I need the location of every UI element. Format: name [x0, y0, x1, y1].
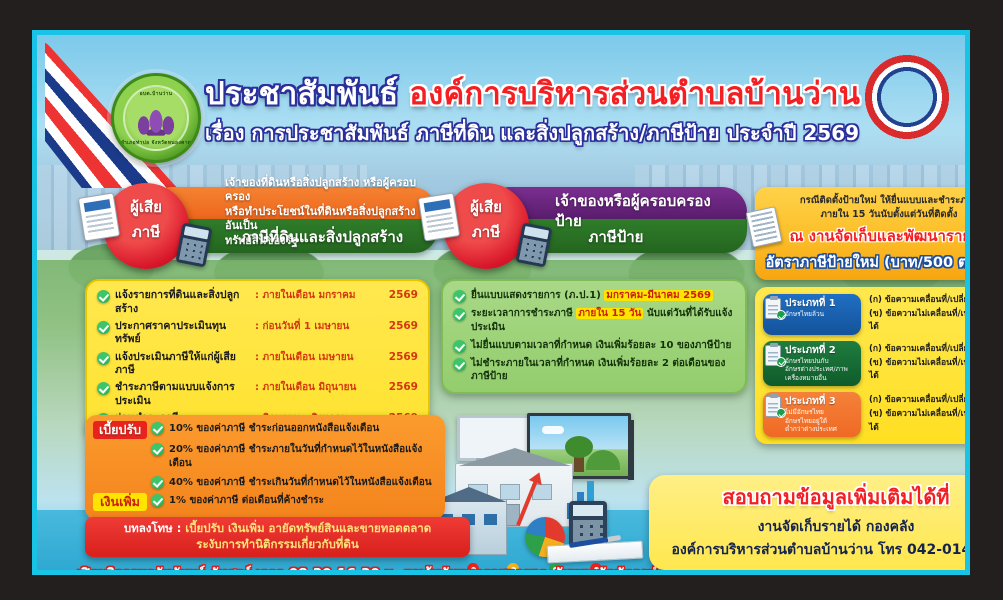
punishment-notice: บทลงโทษ : เบี้ยปรับ เงินเพิ่ม อายัดทรัพย…	[85, 517, 470, 557]
rate-table-row: ประเภทที่ 3 ไม่มีอักษรไทย อักษรไทยอยู่ใต…	[763, 392, 965, 437]
rate-table-row: ประเภทที่ 2 อักษรไทยปนกับ อักษรต่างประเท…	[763, 341, 965, 386]
penalty-row: 40% ของค่าภาษี ชำระเกินวันที่กำหนดไว้ในห…	[93, 475, 437, 491]
check-icon	[151, 476, 164, 489]
clipboard-icon	[765, 345, 781, 366]
schedule-year: 2569	[378, 320, 418, 334]
emblem-motif-icon	[134, 102, 178, 136]
penalty-row: เบี้ยปรับ 10% ของค่าภาษี ชำระก่อนออกหนัง…	[93, 421, 437, 439]
rate-category-sub-1: อักษรไทยปนกับ	[785, 357, 857, 365]
rate-item: (ก) ข้อความเคลื่อนที่/เปลี่ยนได้ 10	[869, 294, 965, 308]
clipboard-icon	[765, 396, 781, 417]
rate-category-1: ประเภทที่ 1 อักษรไทยล้วน	[763, 294, 861, 335]
new-sign-notice-office: ณ งานจัดเก็บและพัฒนารายได้	[765, 224, 965, 248]
check-icon	[97, 382, 110, 395]
rate-item-desc: (ข) ข้อความไม่เคลื่อนที่/เปลี่ยนไม่ได้	[869, 357, 965, 384]
schedule-period: : ภายในเดือน มิถุนายน	[255, 381, 373, 395]
schedule-row: แจ้งรายการที่ดินและสิ่งปลูกสร้าง : ภายใน…	[97, 289, 418, 316]
sign-rule-text: ไม่ชำระภายในเวลาที่กำหนด เงินเพิ่มร้อยละ…	[471, 358, 725, 383]
page-title: ประชาสัมพันธ์ องค์การบริหารส่วนตำบลบ้านว…	[205, 77, 855, 113]
sign-rule-row: ไม่ชำระภายในเวลาที่กำหนด เงินเพิ่มร้อยละ…	[453, 357, 735, 385]
rate-item-desc: (ก) ข้อความเคลื่อนที่/เปลี่ยนได้	[869, 394, 965, 408]
poster: อบต.บ้านว่าน อำเภอท่าบ่อ จังหวัดหนองคาย …	[37, 35, 965, 570]
rate-item-desc: (ข) ข้อความไม่เคลื่อนที่/เปลี่ยนไม่ได้	[869, 308, 965, 335]
schedule-row: แจ้งประเมินภาษีให้แก่ผู้เสียภาษี : ภายใน…	[97, 351, 418, 378]
penalty-text: 1% ของค่าภาษี ต่อเดือนที่ค้างชำระ	[169, 493, 324, 509]
punishment-line-2: ระงับการทำนิติกรรมเกี่ยวกับที่ดิน	[94, 537, 461, 553]
sign-rule-highlight: มกราคม-มีนาคม 2569	[604, 290, 713, 301]
rate-item-desc: (ก) ข้อความเคลื่อนที่/เปลี่ยนได้	[869, 343, 965, 357]
schedule-label: ชำระภาษีตามแบบแจ้งการประเมิน	[115, 381, 250, 408]
rate-category-sub-1: ไม่มีอักษรไทย	[785, 408, 857, 416]
poster-frame: อบต.บ้านว่าน อำเภอท่าบ่อ จังหวัดหนองคาย …	[32, 30, 970, 575]
rate-category-sub-2: อักษรไทยอยู่ใต้	[785, 417, 857, 425]
punishment-tag: บทลงโทษ :	[124, 521, 181, 535]
rate-category-sub-1: อักษรไทยล้วน	[785, 310, 857, 318]
sign-rule-row: ไม่ยื่นแบบตามเวลาที่กำหนด เงินเพิ่มร้อยล…	[453, 339, 735, 353]
schedule-label: แจ้งรายการที่ดินและสิ่งปลูกสร้าง	[115, 289, 250, 316]
page-title-part-2: องค์การบริหารส่วนตำบลบ้านว่าน	[409, 76, 860, 112]
clipboard-icon	[765, 298, 781, 319]
rate-category-sub-2: อักษรต่างประเทศ/ภาพ	[785, 365, 857, 373]
rate-item-desc: (ก) ข้อความเคลื่อนที่/เปลี่ยนได้	[869, 294, 965, 308]
sign-rule-text: ไม่ยื่นแบบตามเวลาที่กำหนด เงินเพิ่มร้อยล…	[471, 340, 731, 351]
page-header: ประชาสัมพันธ์ องค์การบริหารส่วนตำบลบ้านว…	[205, 77, 855, 149]
penalty-tag-empty	[93, 442, 147, 444]
rate-category-3: ประเภทที่ 3 ไม่มีอักษรไทย อักษรไทยอยู่ใต…	[763, 392, 861, 437]
new-sign-notice-panel: กรณีติดตั้งป้ายใหม่ ให้ยื่นแบบและชำระภาษ…	[755, 187, 965, 280]
document-icon	[418, 192, 460, 241]
page-subtitle: เรื่อง การประชาสัมพันธ์ ภาษีที่ดิน และสิ…	[205, 117, 855, 149]
schedule-label: แจ้งประเมินภาษีให้แก่ผู้เสียภาษี	[115, 351, 250, 378]
penalty-panel: เบี้ยปรับ 10% ของค่าภาษี ชำระก่อนออกหนัง…	[85, 415, 445, 520]
contact-organization-phone: องค์การบริหารส่วนตำบลบ้านว่าน โทร 042-01…	[661, 539, 965, 561]
rate-table-row: ประเภทที่ 1 อักษรไทยล้วน (ก) ข้อความเคลื…	[763, 294, 965, 335]
rate-category-sub-3: ต่ำกว่าต่างประเทศ	[785, 425, 857, 433]
service-hours-text: เปิดบริการทุกวันจันทร์-วันศุกร์ เวลา 08.…	[77, 562, 637, 570]
sign-rule-text: ระยะเวลาการชำระภาษี	[471, 308, 576, 319]
schedule-period: : ก่อนวันที่ 1 เมษายน	[255, 320, 373, 334]
penalty-text: 40% ของค่าภาษี ชำระเกินวันที่กำหนดไว้ในห…	[169, 475, 432, 491]
penalty-text: 20% ของค่าภาษี ชำระภายในวันที่กำหนดไว้ใน…	[169, 442, 437, 472]
rate-category-title: ประเภทที่ 1	[785, 298, 857, 310]
sign-tax-schedule-panel: ยื่นแบบแสดงรายการ (ภ.ป.1) มกราคม-มีนาคม …	[441, 279, 747, 394]
check-icon	[453, 290, 466, 303]
penalty-tag-surcharge: เงินเพิ่ม	[93, 493, 147, 511]
emblem-top-text: อบต.บ้านว่าน	[114, 90, 198, 98]
schedule-year: 2569	[378, 289, 418, 303]
organization-emblem-icon: อบต.บ้านว่าน อำเภอท่าบ่อ จังหวัดหนองคาย	[111, 73, 201, 163]
rate-category-sub-3: เครื่องหมายอื่น	[785, 374, 857, 382]
check-icon	[453, 340, 466, 353]
sign-rule-row: ยื่นแบบแสดงรายการ (ภ.ป.1) มกราคม-มีนาคม …	[453, 289, 735, 303]
check-icon	[97, 321, 110, 334]
rate-item-desc: (ข) ข้อความไม่เคลื่อนที่/เปลี่ยนไม่ได้	[869, 408, 965, 435]
schedule-year: 2569	[378, 351, 418, 365]
rate-category-title: ประเภทที่ 2	[785, 345, 857, 357]
sign-payer-desc-1: เจ้าของหรือผู้ครอบครองป้าย	[555, 192, 733, 232]
penalty-row: เงินเพิ่ม 1% ของค่าภาษี ต่อเดือนที่ค้างช…	[93, 493, 437, 511]
land-payer-desc-1: เจ้าของที่ดินหรือสิ่งปลูกสร้าง หรือผู้คร…	[225, 176, 423, 205]
rate-item: (ข) ข้อความไม่เคลื่อนที่/เปลี่ยนไม่ได้ 5	[869, 308, 965, 335]
schedule-label: ประกาศราคาประเมินทุนทรัพย์	[115, 320, 250, 347]
rate-item: (ข) ข้อความไม่เคลื่อนที่/เปลี่ยนไม่ได้ 5…	[869, 408, 965, 435]
rate-item: (ก) ข้อความเคลื่อนที่/เปลี่ยนได้ 52	[869, 394, 965, 408]
contact-panel: สอบถามข้อมูลเพิ่มเติมได้ที่ งานจัดเก็บรา…	[649, 475, 965, 570]
sign-rule-highlight: ภายใน 15 วัน	[576, 308, 643, 319]
check-icon	[151, 494, 164, 507]
rate-table-title: อัตราภาษีป้ายใหม่ (บาท/500 ตร.ซม.)	[765, 251, 965, 274]
penalty-row: 20% ของค่าภาษี ชำระภายในวันที่กำหนดไว้ใน…	[93, 442, 437, 472]
sign-rule-row: ระยะเวลาการชำระภาษี ภายใน 15 วัน นับแต่ว…	[453, 307, 735, 335]
new-sign-notice-line-1: กรณีติดตั้งป้ายใหม่ ให้ยื่นแบบและชำระภาษ…	[765, 194, 965, 208]
sign-rule-text: ยื่นแบบแสดงรายการ (ภ.ป.1)	[471, 290, 604, 301]
schedule-period: : ภายในเดือน เมษายน	[255, 351, 373, 365]
check-icon	[453, 358, 466, 371]
rate-category-2: ประเภทที่ 2 อักษรไทยปนกับ อักษรต่างประเท…	[763, 341, 861, 386]
check-icon	[453, 308, 466, 321]
check-icon	[97, 290, 110, 303]
sign-taxpayer-badge: ผู้เสีย ภาษี	[443, 183, 529, 269]
penalty-tag-fine: เบี้ยปรับ	[93, 421, 147, 439]
land-taxpayer-badge: ผู้เสีย ภาษี	[103, 183, 189, 269]
penalty-text: 10% ของค่าภาษี ชำระก่อนออกหนังสือแจ้งเตื…	[169, 421, 379, 437]
contact-department: งานจัดเก็บรายได้ กองคลัง	[661, 516, 965, 538]
check-icon	[151, 443, 164, 456]
new-sign-notice-line-2: ภายใน 15 วันนับตั้งแต่วันที่ติดตั้ง	[765, 208, 965, 222]
rate-item: (ข) ข้อความไม่เคลื่อนที่/เปลี่ยนไม่ได้ 2…	[869, 357, 965, 384]
schedule-period: : ภายในเดือน มกราคม	[255, 289, 373, 303]
document-icon	[78, 192, 120, 241]
penalty-tag-empty	[93, 475, 147, 477]
page-title-part-1: ประชาสัมพันธ์	[205, 76, 398, 112]
check-icon	[97, 352, 110, 365]
schedule-year: 2569	[378, 381, 418, 395]
punishment-line-1: เบี้ยปรับ เงินเพิ่ม อายัดทรัพย์สินและขาย…	[181, 521, 431, 535]
rate-category-title: ประเภทที่ 3	[785, 396, 857, 408]
contact-title: สอบถามข้อมูลเพิ่มเติมได้ที่	[661, 481, 965, 513]
schedule-row: ชำระภาษีตามแบบแจ้งการประเมิน : ภายในเดือ…	[97, 381, 418, 408]
check-icon	[151, 422, 164, 435]
sign-tax-rate-table: ประเภทที่ 1 อักษรไทยล้วน (ก) ข้อความเคลื…	[755, 287, 965, 444]
emblem-bottom-text: อำเภอท่าบ่อ จังหวัดหนองคาย	[114, 139, 198, 147]
rate-item: (ก) ข้อความเคลื่อนที่/เปลี่ยนได้ 52	[869, 343, 965, 357]
schedule-row: ประกาศราคาประเมินทุนทรัพย์ : ก่อนวันที่ …	[97, 320, 418, 347]
